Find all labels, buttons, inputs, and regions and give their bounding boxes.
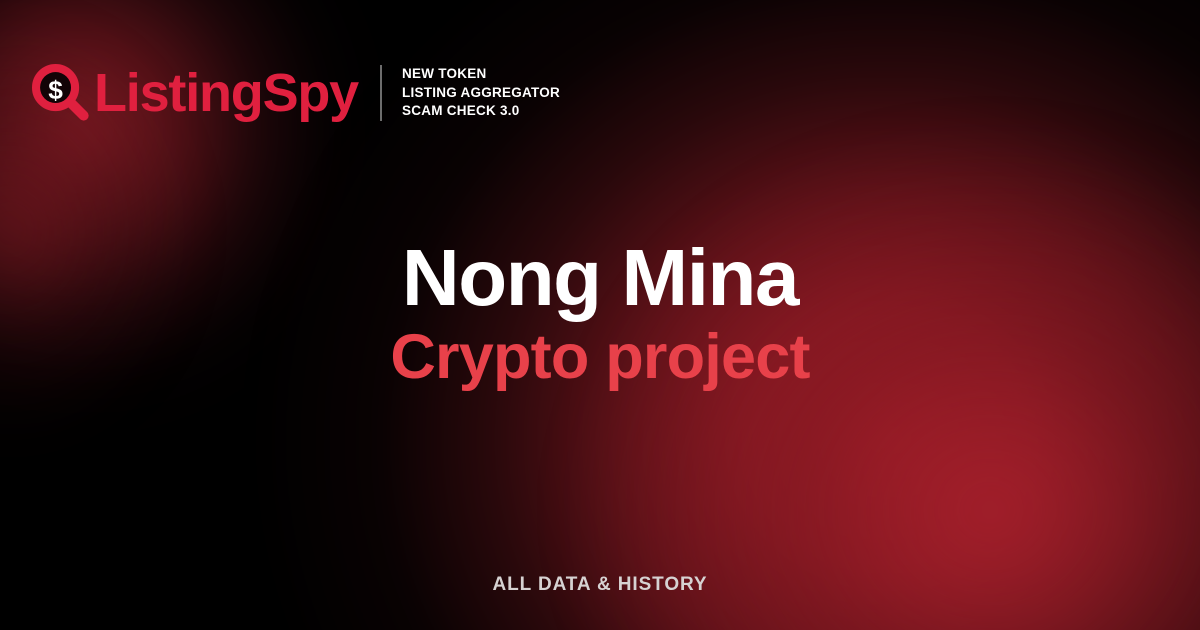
footer-block: ALL DATA & HISTORY [0,574,1200,596]
magnifier-dollar-icon: $ [32,64,90,122]
footer-caption: ALL DATA & HISTORY [493,574,708,596]
tagline-line-2: LISTING AGGREGATOR [402,84,560,103]
hero-block: Nong Mina Crypto project [0,236,1200,391]
tagline-line-1: NEW TOKEN [402,65,560,84]
svg-text:$: $ [48,75,63,105]
brand-name: ListingSpy [94,66,358,120]
page-subtitle: Crypto project [0,323,1200,391]
page-title: Nong Mina [0,236,1200,319]
page-content: $ ListingSpy NEW TOKEN LISTING AGGREGATO… [0,0,1200,630]
brand-tagline: NEW TOKEN LISTING AGGREGATOR SCAM CHECK … [402,65,560,121]
tagline-line-3: SCAM CHECK 3.0 [402,102,560,121]
brand-lockup[interactable]: $ ListingSpy NEW TOKEN LISTING AGGREGATO… [32,55,560,131]
brand-divider [380,65,382,121]
